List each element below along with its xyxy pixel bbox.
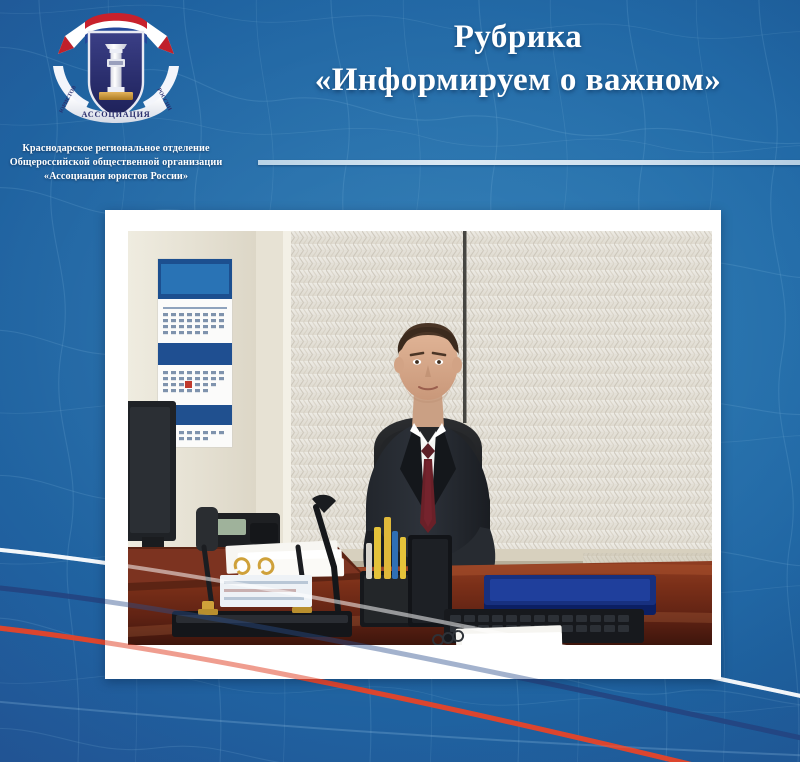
title-divider: [258, 160, 800, 165]
emblem-block: АССОЦИАЦИЯ ЮРИСТОВ РОССИИ Краснодарское …: [0, 4, 232, 184]
emblem-pedestal: [99, 92, 133, 100]
emblem-banner-text: АССОЦИАЦИЯ: [82, 110, 151, 119]
organization-name: Краснодарское региональное отделение Общ…: [0, 142, 232, 184]
portrait-photo: [128, 231, 712, 645]
page-title: Рубрика «Информируем о важном»: [250, 16, 800, 102]
organization-line-1: Краснодарское региональное отделение: [6, 142, 226, 156]
organization-line-2: Общероссийской общественной организации: [6, 156, 226, 170]
poster-canvas: АССОЦИАЦИЯ ЮРИСТОВ РОССИИ Краснодарское …: [0, 0, 800, 762]
title-line-2: «Информируем о важном»: [250, 58, 786, 102]
organization-line-3: «Ассоциация юристов России»: [6, 170, 226, 184]
photo-frame: [105, 210, 721, 679]
association-emblem-icon: АССОЦИАЦИЯ ЮРИСТОВ РОССИИ: [41, 4, 191, 134]
title-line-1: Рубрика: [250, 16, 786, 58]
computer-monitor: [128, 401, 176, 557]
